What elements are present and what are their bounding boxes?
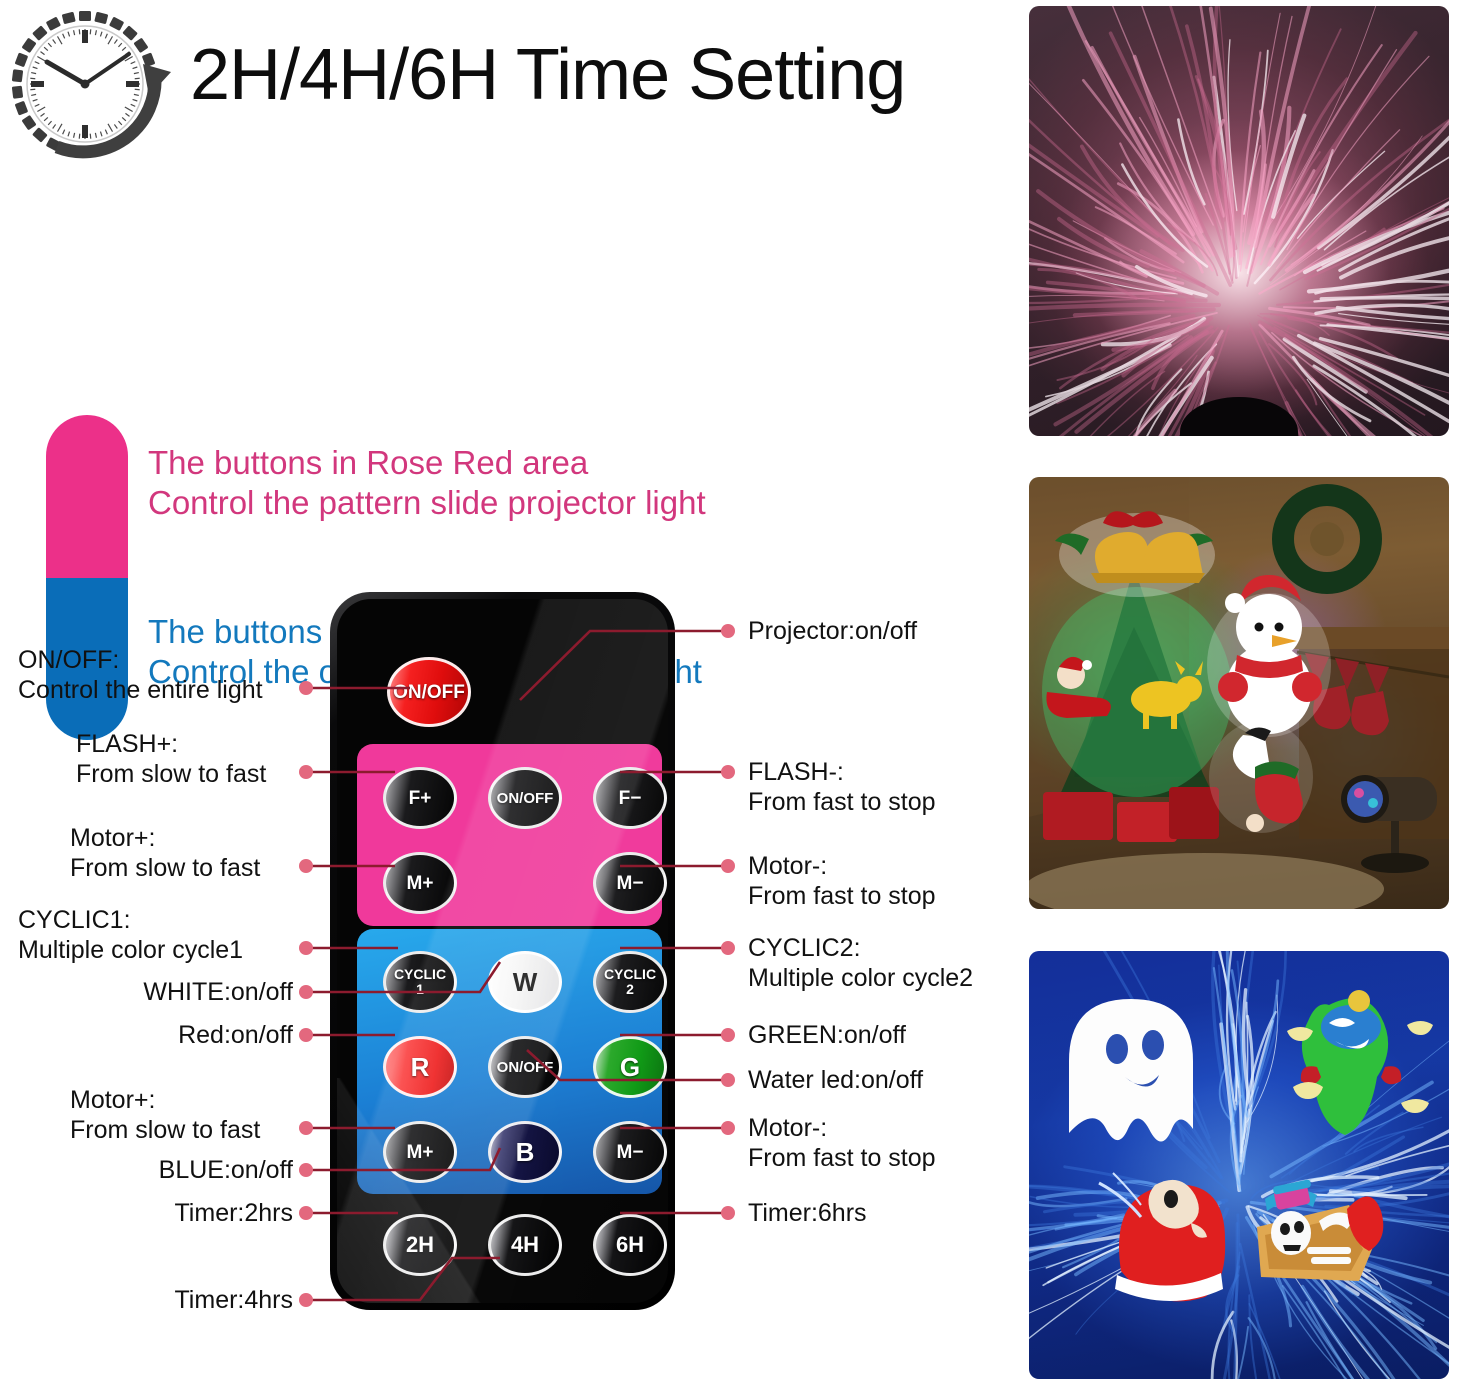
callout-cyclic1-line1: CYCLIC1: [18,906,293,936]
button-main-on-off[interactable]: ON/OFF [387,657,471,727]
callout-motor-plus-blue-line1: Motor+: [18,1086,293,1116]
page-title: 2H/4H/6H Time Setting [190,34,905,116]
button-timer-2h[interactable]: 2H [383,1214,457,1276]
legend-pill-rose-half [46,415,128,578]
callout-motor-plus-blue-line2: From slow to fast [18,1116,293,1146]
callout-motor-minus-rose: Motor-: From fast to stop [748,852,936,911]
christmas-scene-graphics [1029,477,1449,909]
callout-flash-minus: FLASH-: From fast to stop [748,758,936,817]
callout-motor-minus-rose-line2: From fast to stop [748,882,936,912]
callout-flash-plus-line1: FLASH+: [18,730,293,760]
photo-ocean-wave-pink [1029,6,1449,436]
callout-white: WHITE:on/off [18,978,293,1008]
photo-halloween-blue [1029,951,1449,1379]
callout-motor-minus-rose-line1: Motor-: [748,852,936,882]
callout-motor-plus-rose: Motor+: From slow to fast [18,824,293,883]
color-legend: The buttons in Rose Red area Control the… [0,200,1010,560]
callout-flash-plus-line2: From slow to fast [18,760,293,790]
button-motor-minus-rose[interactable]: M− [593,852,667,914]
remote-control: ON/OFF F+ ON/OFF F− M+ M− CYCLIC 1 W CYC… [330,592,675,1310]
clock-with-arrow-icon [5,6,180,181]
legend-rose-line1: The buttons in Rose Red area [148,443,706,483]
callout-motor-minus-blue-line2: From fast to stop [748,1144,936,1174]
callout-green: GREEN:on/off [748,1021,906,1051]
halloween-scene-graphics [1029,951,1449,1379]
callout-cyclic1-line2: Multiple color cycle1 [18,936,293,966]
header: 2H/4H/6H Time Setting [0,0,1010,190]
callout-water-led: Water led:on/off [748,1066,923,1096]
callout-motor-minus-blue: Motor-: From fast to stop [748,1114,936,1173]
button-projector-on-off[interactable]: ON/OFF [488,767,562,829]
callout-motor-minus-blue-line1: Motor-: [748,1114,936,1144]
button-motor-minus-blue[interactable]: M− [593,1121,667,1183]
button-timer-4h[interactable]: 4H [488,1214,562,1276]
callout-flash-minus-line1: FLASH-: [748,758,936,788]
button-cyclic-1[interactable]: CYCLIC 1 [383,951,457,1013]
button-cyclic1-line1: CYCLIC [394,966,446,982]
photo-christmas-room [1029,477,1449,909]
callout-timer-4hrs: Timer:4hrs [18,1286,293,1316]
button-flash-minus[interactable]: F− [593,767,667,829]
button-blue[interactable]: B [488,1121,562,1183]
callout-motor-plus-rose-line2: From slow to fast [18,854,293,884]
callout-blue: BLUE:on/off [18,1156,293,1186]
button-flash-plus[interactable]: F+ [383,767,457,829]
button-cyclic2-line1: CYCLIC [604,966,656,982]
legend-rose-text: The buttons in Rose Red area Control the… [148,443,706,524]
remote-face: ON/OFF F+ ON/OFF F− M+ M− CYCLIC 1 W CYC… [337,599,668,1303]
callout-cyclic2-line2: Multiple color cycle2 [748,964,973,994]
button-motor-plus-rose[interactable]: M+ [383,852,457,914]
callout-cyclic1: CYCLIC1: Multiple color cycle1 [18,906,293,965]
button-white[interactable]: W [488,951,562,1013]
button-cyclic2-line2: 2 [626,981,634,997]
callout-motor-plus-rose-line1: Motor+: [18,824,293,854]
callout-projector: Projector:on/off [748,617,917,647]
callout-cyclic2-line1: CYCLIC2: [748,934,973,964]
button-timer-6h[interactable]: 6H [593,1214,667,1276]
button-water-led-on-off[interactable]: ON/OFF [488,1036,562,1098]
button-green[interactable]: G [593,1036,667,1098]
callout-flash-plus: FLASH+: From slow to fast [18,730,293,789]
button-cyclic-2[interactable]: CYCLIC 2 [593,951,667,1013]
callout-cyclic2: CYCLIC2: Multiple color cycle2 [748,934,973,993]
legend-rose-line2: Control the pattern slide projector ligh… [148,483,706,523]
button-cyclic1-line2: 1 [416,981,424,997]
button-motor-plus-blue[interactable]: M+ [383,1121,457,1183]
callout-on-off-line2: Control the entire light [18,676,293,706]
callout-motor-plus-blue: Motor+: From slow to fast [18,1086,293,1145]
callout-flash-minus-line2: From fast to stop [748,788,936,818]
ocean-wave-rays [1029,6,1449,436]
callout-timer-2hrs: Timer:2hrs [18,1199,293,1229]
button-red[interactable]: R [383,1036,457,1098]
callout-on-off: ON/OFF: Control the entire light [18,646,293,705]
callout-timer-6hrs: Timer:6hrs [748,1199,867,1229]
callout-red: Red:on/off [18,1021,293,1051]
callout-on-off-line1: ON/OFF: [18,646,293,676]
